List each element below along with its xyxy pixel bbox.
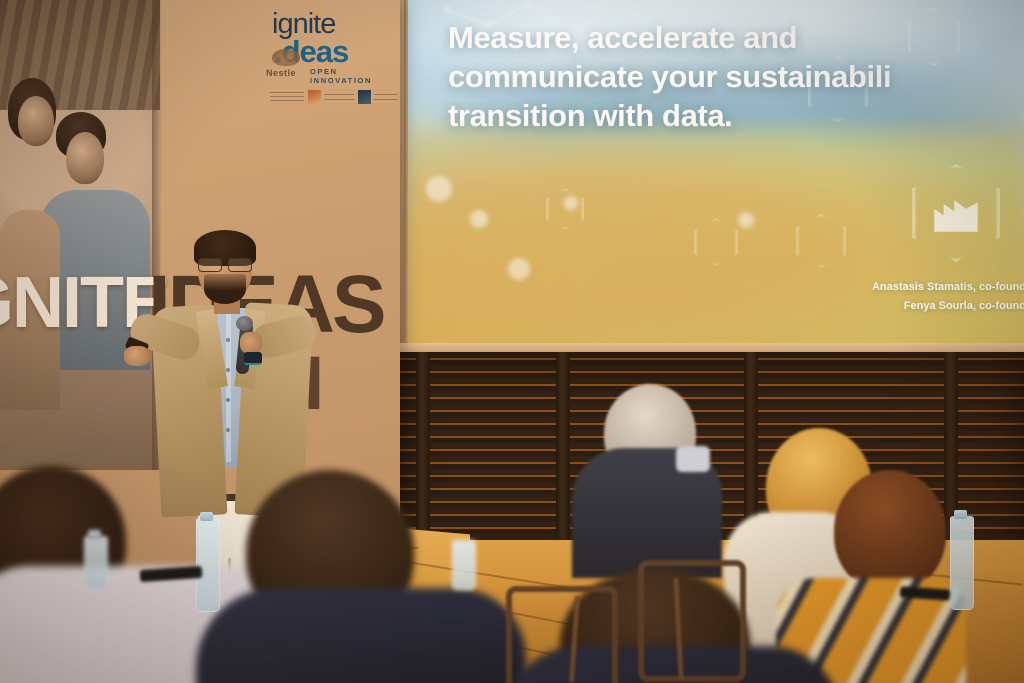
eyeglasses-icon	[198, 258, 254, 270]
conference-photo-scene: Measure, accelerate and communicate your…	[0, 0, 1024, 683]
water-bottle	[84, 536, 108, 590]
ignite-ideas-logo: ignite .deas OPEN INNOVATION Nestle	[260, 4, 392, 104]
water-bottle	[452, 540, 476, 590]
sponsor-divider-rule	[270, 92, 304, 93]
slide-network-node	[470, 210, 488, 228]
presenter-shirt-button	[226, 338, 230, 342]
chair-frame	[638, 560, 746, 682]
banner-photo-person	[18, 96, 54, 146]
banner-photo-person	[66, 132, 104, 184]
audience-member-collar	[676, 446, 710, 472]
nestle-wordmark: Nestle	[266, 68, 296, 78]
presenter-credit-line: Fenya Sourla, co-found	[872, 297, 1024, 316]
slide-presenter-credits: Anastasis Stamatis, co-found Fenya Sourl…	[872, 278, 1024, 315]
slide-hero-hexagon-badge	[912, 164, 1000, 262]
sponsor-logo-a-icon	[308, 90, 321, 104]
chair-frame	[506, 586, 618, 683]
sponsor-divider-rule	[270, 100, 304, 101]
audience-member-head	[834, 470, 946, 592]
presenter-credit-line: Anastasis Stamatis, co-found	[872, 278, 1024, 297]
presenter-shirt-button	[226, 368, 230, 372]
slide-network-node	[508, 258, 530, 280]
panel-divider-post	[556, 352, 570, 567]
slide-network-node	[426, 176, 452, 202]
presenter-shirt-placket	[226, 312, 231, 462]
banner-photograph	[0, 0, 160, 470]
nest-bird-icon	[272, 49, 300, 66]
water-bottle	[196, 518, 220, 612]
slide-headline: Measure, accelerate and communicate your…	[448, 18, 1024, 135]
water-bottle-cap	[954, 510, 967, 519]
eyeglass-lens	[198, 258, 222, 272]
water-bottle-cap	[200, 512, 213, 521]
audience-member-body	[196, 588, 526, 683]
presenter-right-hand	[240, 332, 262, 354]
logo-tagline: OPEN INNOVATION	[310, 67, 392, 85]
sponsor-divider-rule	[374, 99, 398, 100]
sponsor-divider-rule	[270, 96, 304, 97]
microphone-head-icon	[236, 316, 253, 331]
presenter-shirt-button	[226, 428, 230, 432]
sponsor-logo-row	[270, 89, 390, 105]
sponsor-logo-b-icon	[358, 90, 371, 104]
presenter-beard	[204, 274, 246, 304]
sponsor-divider-rule	[374, 94, 398, 95]
water-bottle-cap	[88, 530, 101, 539]
nestle-logo: Nestle	[266, 49, 308, 81]
projection-screen: Measure, accelerate and communicate your…	[408, 0, 1024, 348]
logo-accent-dot-icon	[314, 12, 318, 16]
slide-network-node	[526, 2, 532, 8]
eyeglass-lens	[228, 258, 252, 272]
smartwatch-icon	[244, 352, 262, 365]
sponsor-divider-rule	[324, 94, 354, 95]
presenter-left-hand	[124, 346, 150, 366]
water-bottle	[950, 516, 974, 610]
sponsor-divider-rule	[324, 99, 354, 100]
slide-network-node	[738, 212, 754, 228]
presenter-shirt-button	[226, 398, 230, 402]
